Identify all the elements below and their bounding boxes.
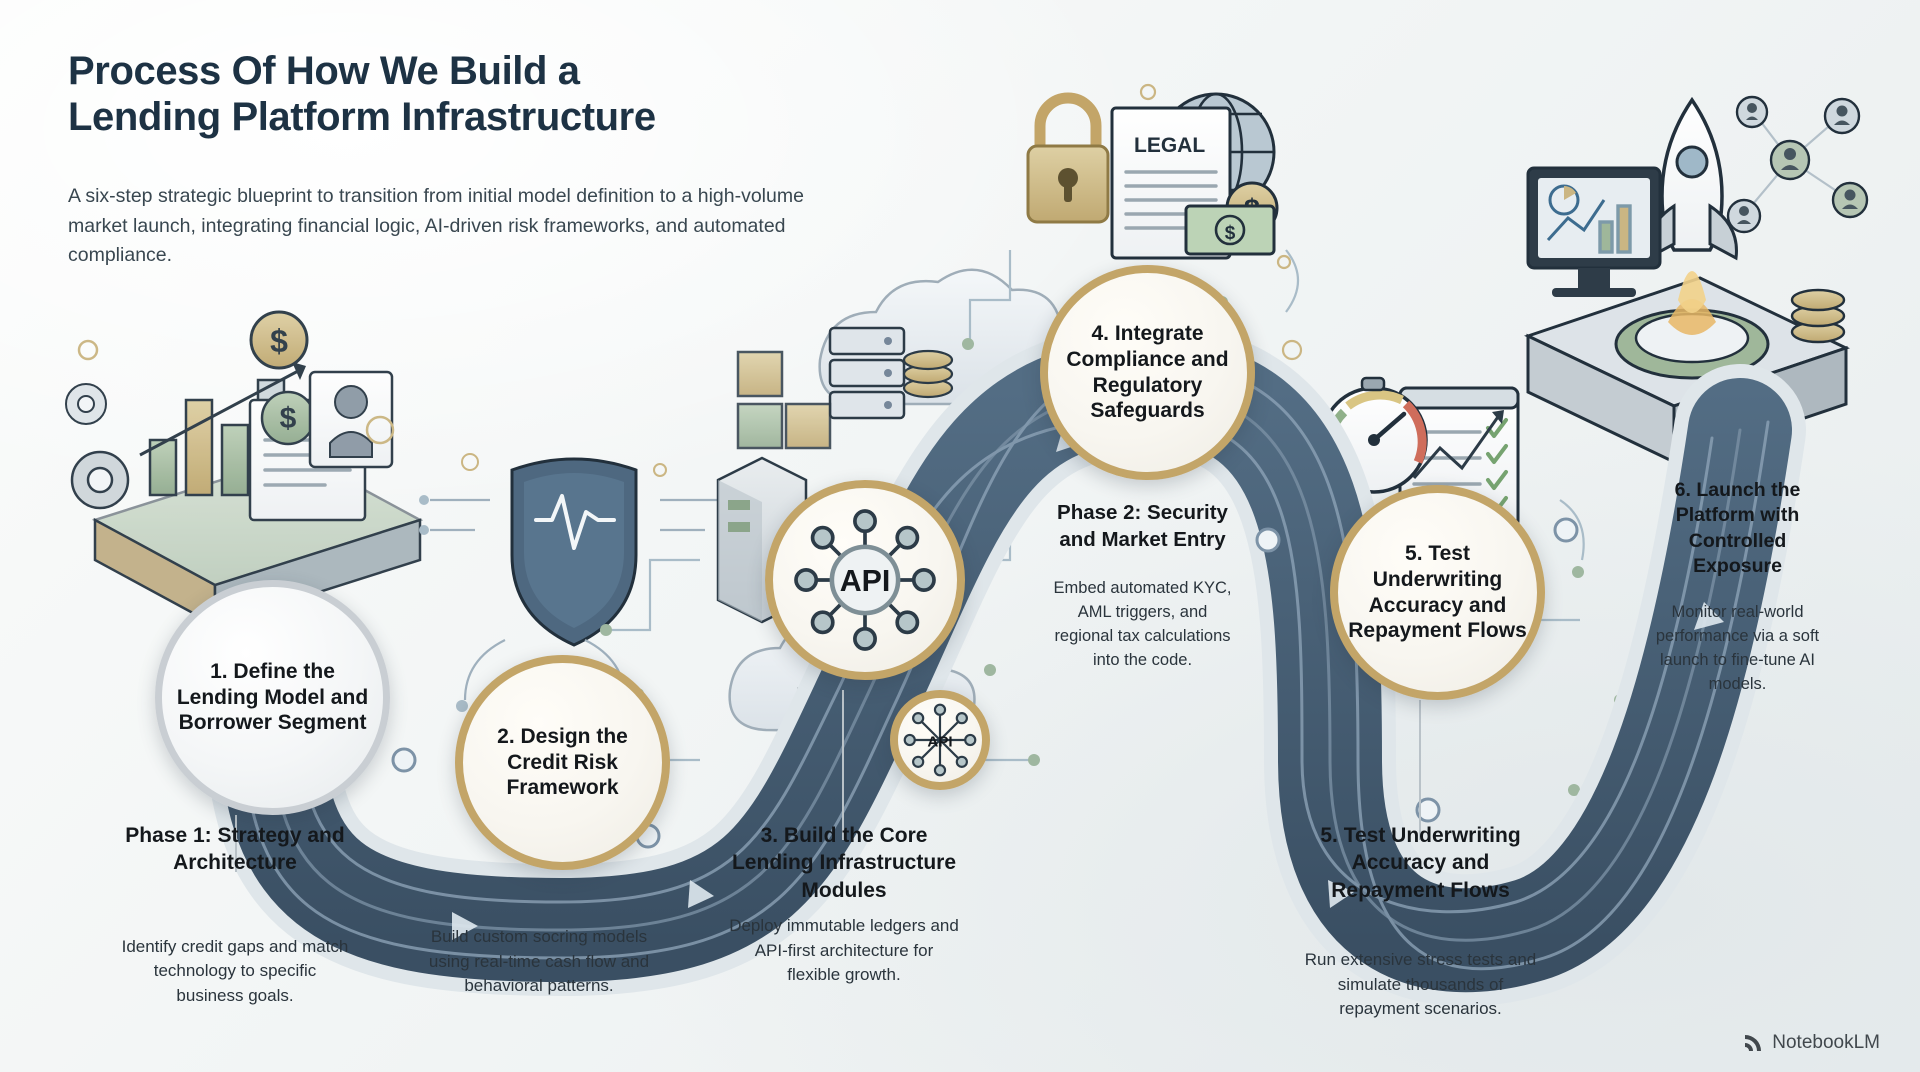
caption-phase-1-heading: Phase 1: Strategy and Architecture <box>120 822 350 877</box>
api-hub-label: API <box>840 565 891 598</box>
step-4-node[interactable]: 4. Integrate Compliance and Regulatory S… <box>1040 265 1255 480</box>
infographic-canvas: Process Of How We Build a Lending Platfo… <box>0 0 1920 1072</box>
caption-phase-1: Phase 1: Strategy and Architecture Ident… <box>120 822 350 1009</box>
caption-step-2: Build custom socring models using real-t… <box>428 925 650 999</box>
notebooklm-logo-icon <box>1742 1033 1764 1053</box>
caption-step-5: 5. Test Underwriting Accuracy and Repaym… <box>1298 822 1543 1022</box>
step-1-node[interactable]: 1. Define the Lending Model and Borrower… <box>155 580 390 815</box>
caption-phase-1-body: Identify credit gaps and match technolog… <box>120 935 350 1009</box>
step-6-heading: 6. Launch the Platform with Controlled E… <box>1645 478 1830 579</box>
api-hub-small-icon: API <box>898 698 982 782</box>
api-hub-small-label: API <box>927 734 952 751</box>
step-5-node[interactable]: 5. Test Underwriting Accuracy and Repaym… <box>1330 485 1545 700</box>
notebooklm-watermark-label: NotebookLM <box>1772 1032 1880 1054</box>
step-3-api-node[interactable]: API <box>765 480 965 680</box>
phase-2-body: Embed automated KYC, AML triggers, and r… <box>1050 577 1235 673</box>
notebooklm-watermark: NotebookLM <box>1742 1032 1880 1054</box>
step-3-api-node-small[interactable]: API <box>890 690 990 790</box>
phase-2-block: Phase 2: Security and Market Entry Embed… <box>1050 500 1235 673</box>
phase-2-heading: Phase 2: Security and Market Entry <box>1050 500 1235 553</box>
step-6-body: Monitor real-world performance via a sof… <box>1645 601 1830 697</box>
caption-step-3-body: Deploy immutable ledgers and API-first a… <box>728 914 960 988</box>
api-hub-icon: API <box>773 488 957 672</box>
step-4-label: 4. Integrate Compliance and Regulatory S… <box>1048 321 1247 423</box>
step-1-label: 1. Define the Lending Model and Borrower… <box>162 659 383 736</box>
caption-step-5-body: Run extensive stress tests and simulate … <box>1298 948 1543 1022</box>
step-2-label: 2. Design the Credit Risk Framework <box>463 724 662 801</box>
caption-step-5-heading: 5. Test Underwriting Accuracy and Repaym… <box>1298 822 1543 904</box>
caption-step-2-body: Build custom socring models using real-t… <box>428 925 650 999</box>
step-2-node[interactable]: 2. Design the Credit Risk Framework <box>455 655 670 870</box>
caption-step-3-heading: 3. Build the Core Lending Infrastructure… <box>728 822 960 904</box>
step-6-block: 6. Launch the Platform with Controlled E… <box>1645 478 1830 697</box>
step-5-label: 5. Test Underwriting Accuracy and Repaym… <box>1338 541 1537 643</box>
caption-step-3: 3. Build the Core Lending Infrastructure… <box>728 822 960 988</box>
